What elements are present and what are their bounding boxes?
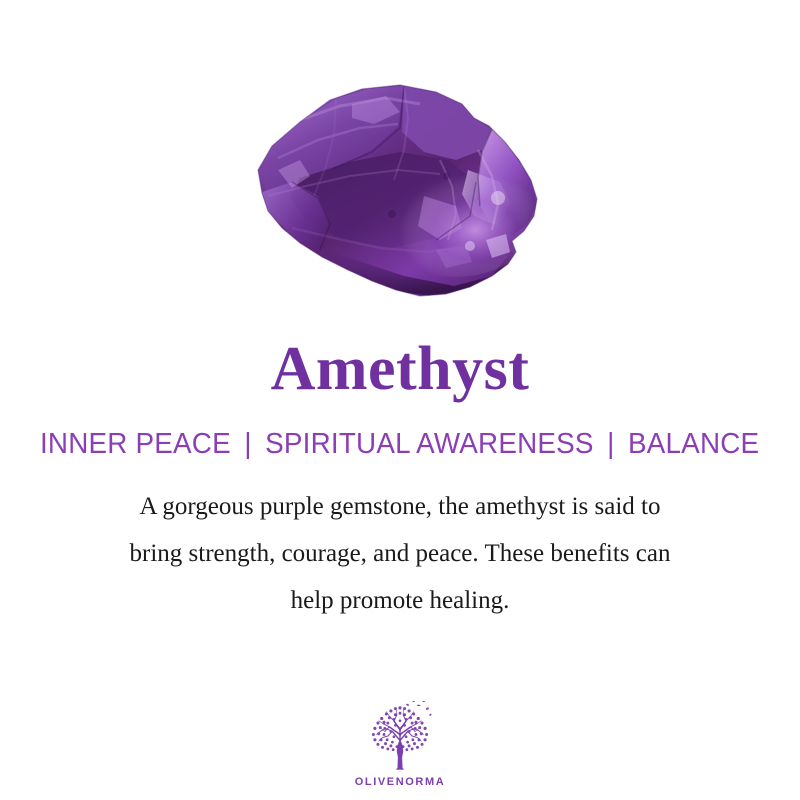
keyword-spiritual-awareness: SPIRITUAL AWARENESS: [264, 428, 596, 461]
brand-logo: OLIVENORMA: [0, 698, 800, 788]
crystal-body: [250, 75, 550, 305]
description-line: help promote healing.: [50, 577, 750, 624]
amethyst-info-card: Amethyst INNER PEACE | SPIRITUAL AWARENE…: [0, 0, 800, 800]
tree-icon: [362, 698, 438, 774]
description-line: A gorgeous purple gemstone, the amethyst…: [50, 483, 750, 530]
keyword-separator: |: [233, 428, 263, 461]
description-text: A gorgeous purple gemstone, the amethyst…: [50, 483, 750, 624]
page-title: Amethyst: [271, 338, 530, 400]
keyword-balance: BALANCE: [626, 428, 761, 461]
keyword-separator: |: [596, 428, 626, 461]
amethyst-crystal-photo: [0, 0, 800, 320]
brand-name: OLIVENORMA: [355, 776, 446, 788]
keyword-inner-peace: INNER PEACE: [38, 428, 233, 461]
crystal-image-container: [0, 0, 800, 320]
birds-icon: [406, 701, 432, 716]
description-line: bring strength, courage, and peace. Thes…: [50, 530, 750, 577]
keyword-list: INNER PEACE | SPIRITUAL AWARENESS | BALA…: [38, 428, 761, 461]
